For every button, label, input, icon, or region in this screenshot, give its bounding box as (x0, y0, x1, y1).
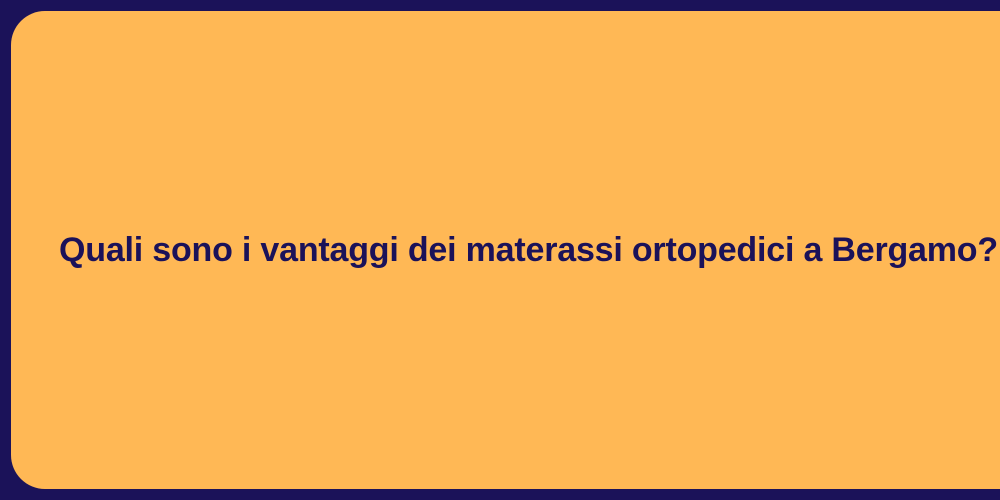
question-heading: Quali sono i vantaggi dei materassi orto… (59, 228, 998, 272)
question-card-frame: Quali sono i vantaggi dei materassi orto… (0, 0, 1000, 500)
question-card-panel: Quali sono i vantaggi dei materassi orto… (11, 11, 1000, 489)
